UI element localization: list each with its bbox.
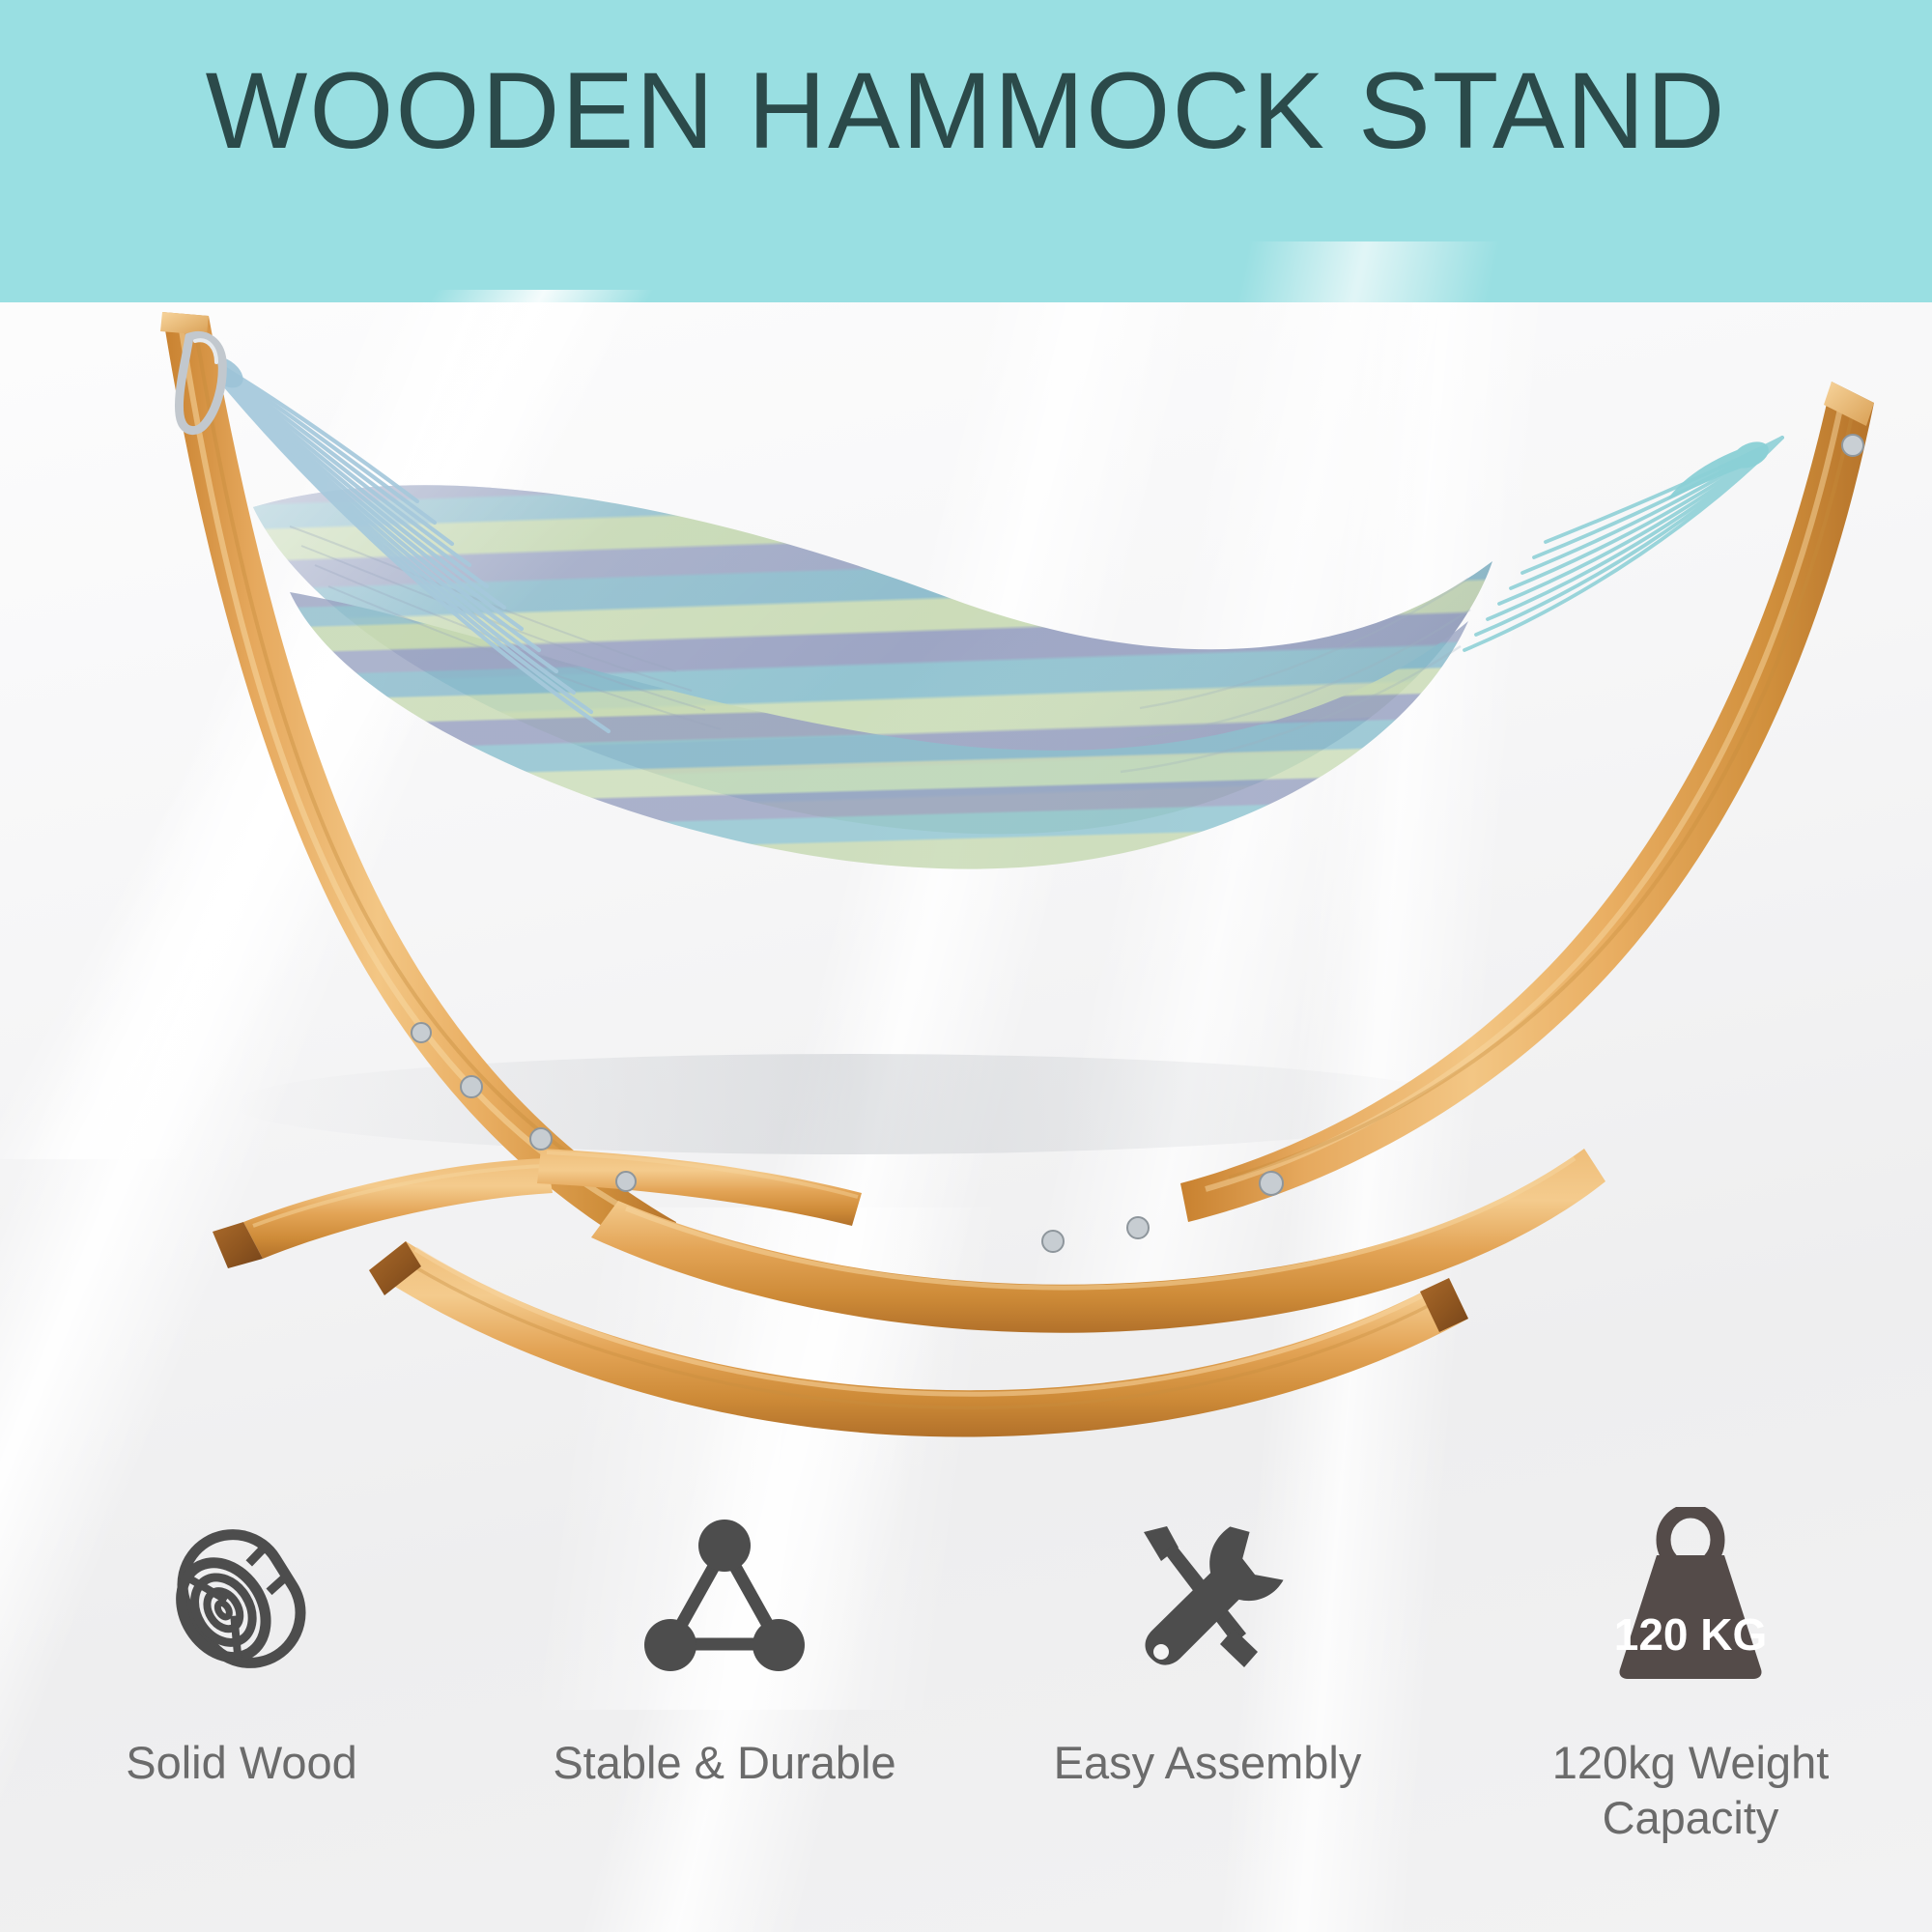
triangle-stability-icon <box>628 1507 821 1690</box>
header-banner: WOODEN HAMMOCK STAND <box>0 0 1932 302</box>
floor-shadow <box>232 1054 1468 1154</box>
bolt <box>1842 435 1863 456</box>
page-title: WOODEN HAMMOCK STAND <box>206 57 1727 165</box>
weight-icon: 120 KG <box>1589 1507 1792 1690</box>
product-marketing-image: WOODEN HAMMOCK STAND <box>0 0 1932 1932</box>
feature-label: 120kg Weight Capacity <box>1468 1735 1913 1846</box>
wood-log-icon <box>145 1507 338 1690</box>
feature-solid-wood: Solid Wood <box>0 1507 483 1790</box>
weight-badge-text: 120 KG <box>1614 1609 1768 1660</box>
product-photo <box>0 302 1932 1491</box>
feature-label: Stable & Durable <box>553 1735 895 1790</box>
wrench-screwdriver-icon <box>1111 1507 1304 1690</box>
feature-label: Solid Wood <box>126 1735 357 1790</box>
feature-stable-durable: Stable & Durable <box>483 1507 966 1790</box>
features-row: Solid Wood Stable & Durable <box>0 1507 1932 1932</box>
base-left-foot <box>213 1158 553 1268</box>
feature-easy-assembly: Easy Assembly <box>966 1507 1449 1790</box>
feature-weight-capacity: 120 KG 120kg Weight Capacity <box>1449 1507 1932 1846</box>
feature-label: Easy Assembly <box>1054 1735 1362 1790</box>
